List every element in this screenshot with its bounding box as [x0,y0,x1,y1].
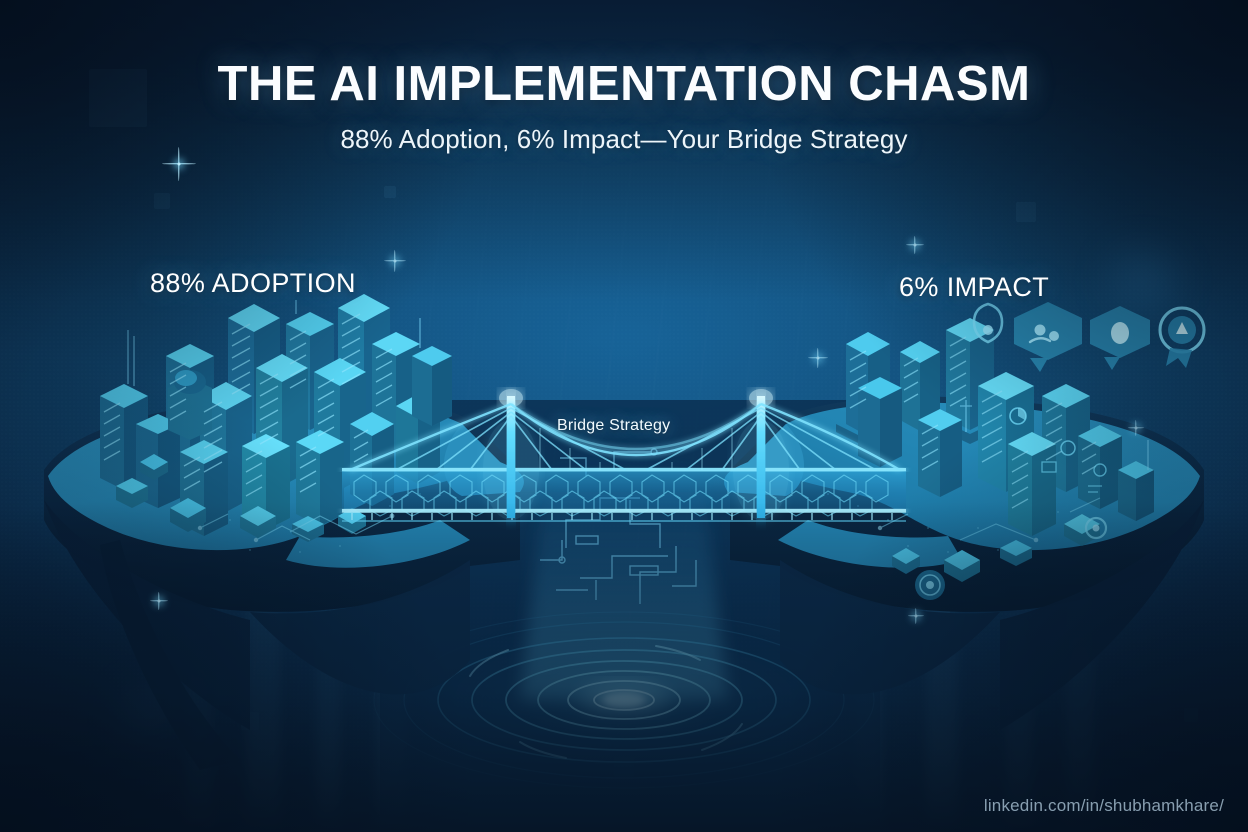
left-stat-label: 88% ADOPTION [150,268,356,299]
page-title: THE AI IMPLEMENTATION CHASM [0,56,1248,112]
infographic-canvas: THE AI IMPLEMENTATION CHASM 88% Adoption… [0,0,1248,832]
right-stat-label: 6% IMPACT [899,272,1049,303]
bridge-strategy-label: Bridge Strategy [557,417,670,435]
page-subtitle: 88% Adoption, 6% Impact—Your Bridge Stra… [0,124,1248,155]
watermark-link[interactable]: linkedin.com/in/shubhamkhare/ [984,796,1224,816]
